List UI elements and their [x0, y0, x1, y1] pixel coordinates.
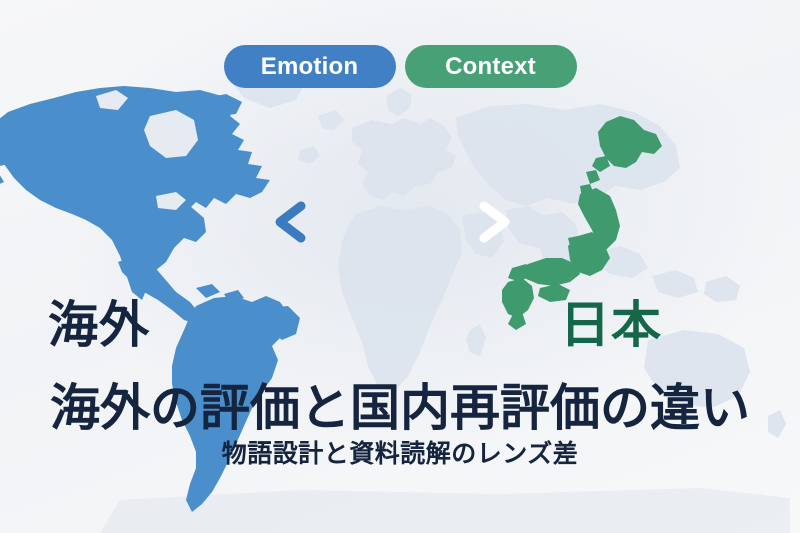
infographic-canvas: Emotion Context 海外 — [0, 0, 800, 533]
badge-emotion-label: Emotion — [261, 55, 358, 79]
region-label-japan: 日本 — [560, 300, 662, 350]
badge-emotion[interactable]: Emotion — [224, 45, 396, 88]
title-block: 海外の評価と国内再評価の違い 物語設計と資料読解のレンズ差 — [0, 381, 800, 469]
badge-context-label: Context — [445, 55, 536, 79]
badge-row: Emotion Context — [0, 45, 800, 88]
page-subtitle: 物語設計と資料読解のレンズ差 — [0, 441, 800, 469]
badge-context[interactable]: Context — [405, 45, 577, 88]
page-title: 海外の評価と国内再評価の違い — [0, 381, 800, 435]
region-label-overseas: 海外 — [48, 300, 150, 350]
